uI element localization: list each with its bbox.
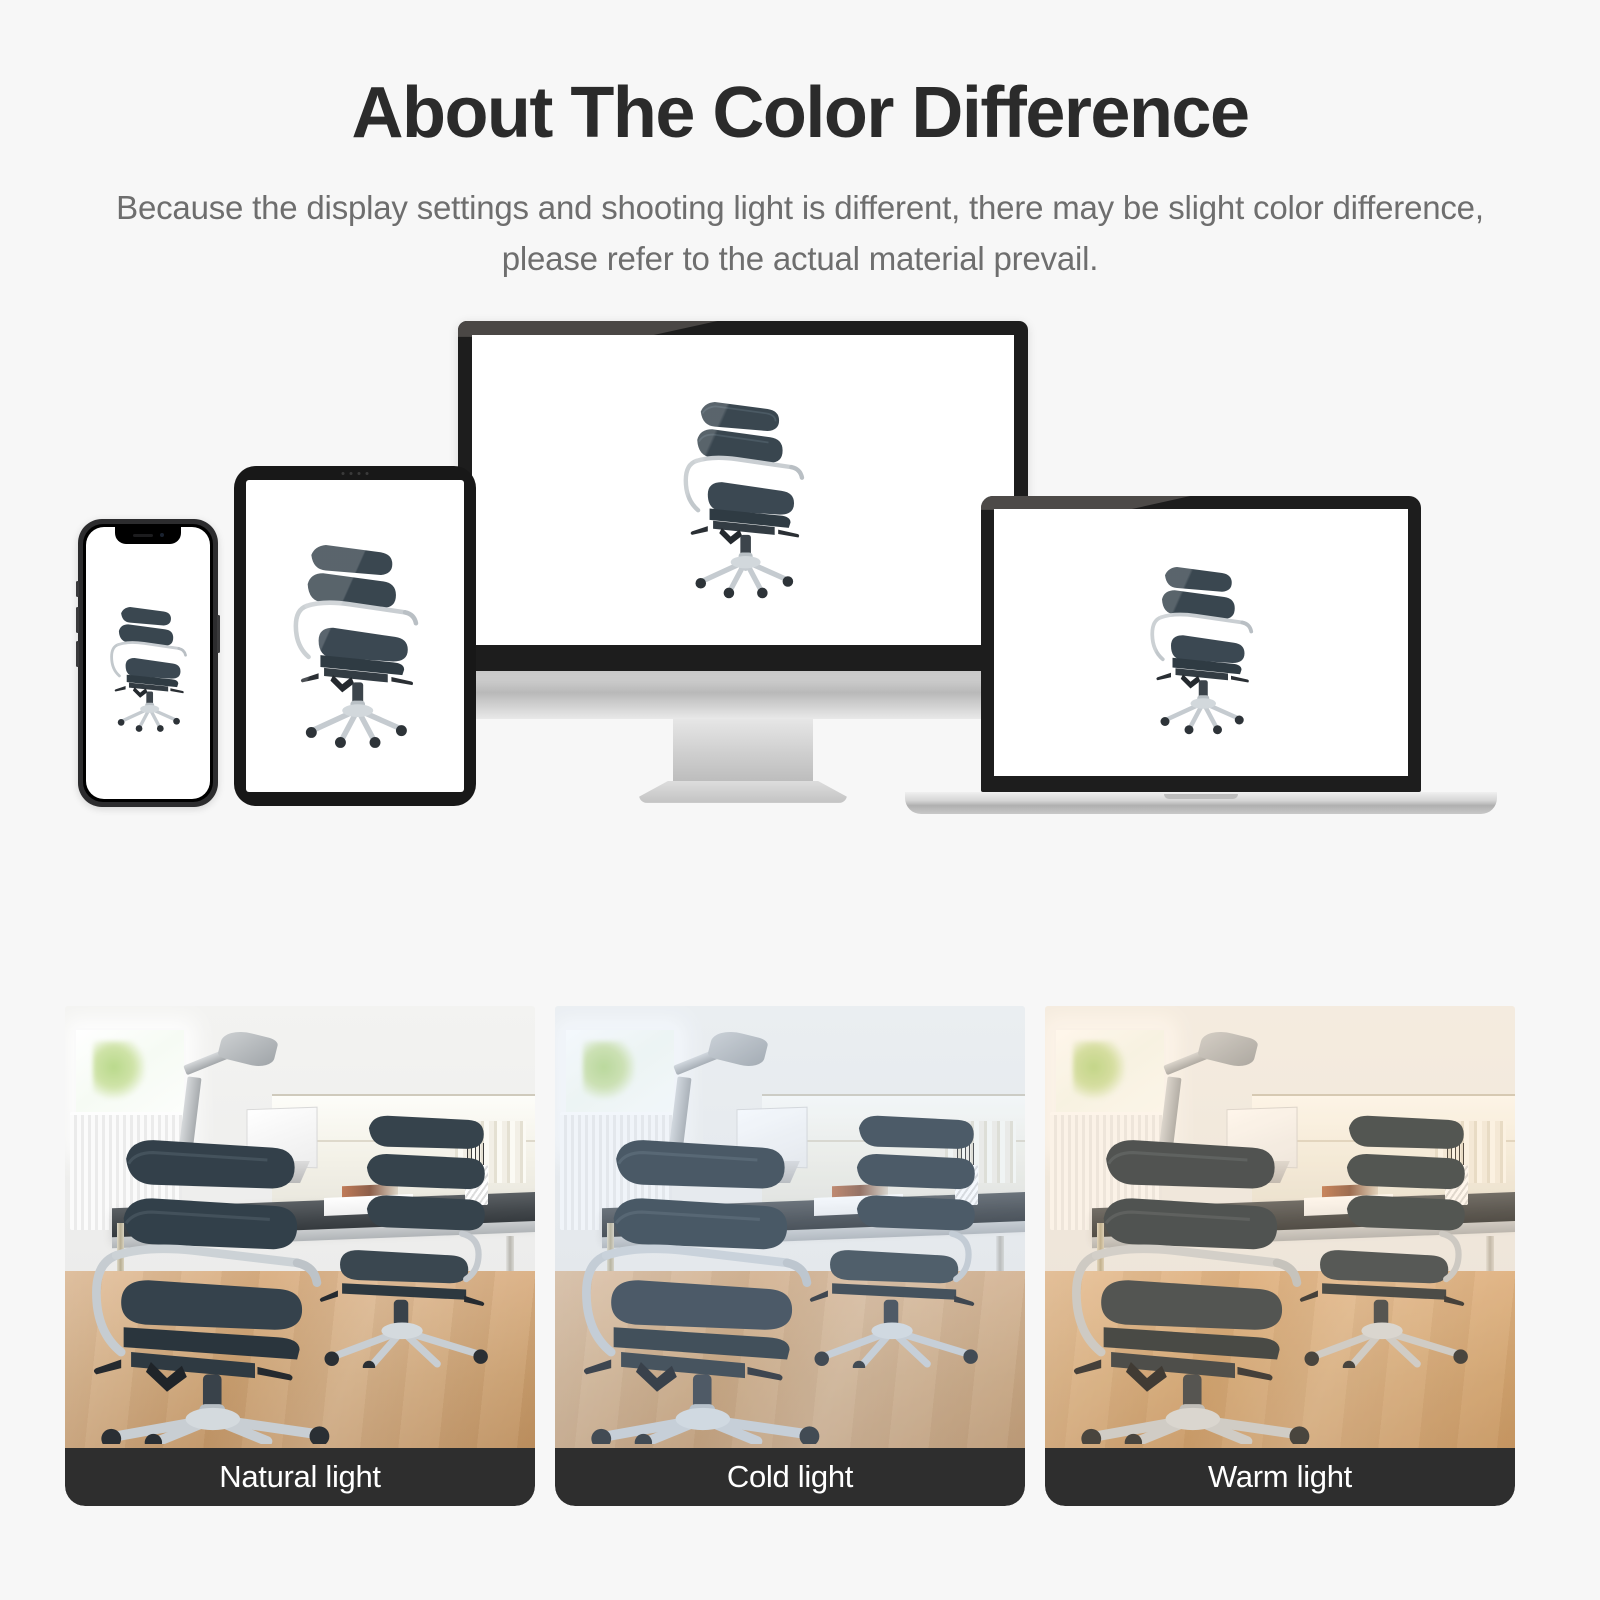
phone-bezel (83, 524, 213, 802)
page-header: About The Color Difference Because the d… (0, 0, 1600, 284)
room-photo (555, 1006, 1025, 1448)
speaker-icon (133, 534, 153, 537)
monitor-neck (673, 719, 813, 781)
device-tablet (234, 466, 476, 806)
chair-image-tablet (246, 480, 464, 792)
office-scene (1045, 1006, 1515, 1448)
phone-screen (86, 527, 210, 799)
chair-front (84, 1099, 357, 1444)
lighting-card-warm[interactable]: Warm light (1045, 1006, 1515, 1506)
chair-image-laptop (994, 509, 1408, 776)
lighting-card-label: Natural light (65, 1448, 535, 1506)
device-showcase (0, 306, 1600, 866)
page-subtitle: Because the display settings and shootin… (105, 182, 1495, 284)
window-foliage (1073, 1041, 1125, 1098)
laptop-base (905, 792, 1497, 814)
room-photo (65, 1006, 535, 1448)
laptop-screen (994, 509, 1408, 776)
chair-front (574, 1099, 847, 1444)
monitor-foot (639, 781, 847, 803)
laptop-trackpad-notch (1164, 794, 1238, 799)
office-scene (555, 1006, 1025, 1448)
phone-notch (115, 527, 181, 544)
window-foliage (583, 1041, 635, 1098)
room-photo (1045, 1006, 1515, 1448)
phone-volume-up-button (76, 607, 79, 633)
office-scene (65, 1006, 535, 1448)
device-laptop (905, 496, 1497, 814)
lighting-card-label: Cold light (555, 1448, 1025, 1506)
device-phone (78, 519, 218, 807)
laptop-bezel (981, 496, 1421, 792)
front-camera-icon (160, 533, 164, 537)
lighting-card-list: Natural light (65, 1006, 1535, 1506)
phone-volume-down-button (76, 641, 79, 667)
tablet-screen (246, 480, 464, 792)
page-title: About The Color Difference (0, 76, 1600, 152)
chair-front (1064, 1099, 1337, 1444)
phone-power-button (217, 615, 220, 653)
tablet-sensor-icon (342, 472, 369, 475)
lighting-card-label: Warm light (1045, 1448, 1515, 1506)
window-foliage (93, 1041, 145, 1098)
lighting-card-natural[interactable]: Natural light (65, 1006, 535, 1506)
lighting-card-cold[interactable]: Cold light (555, 1006, 1025, 1506)
chair-image-phone (86, 527, 210, 799)
phone-mute-switch (76, 581, 79, 597)
